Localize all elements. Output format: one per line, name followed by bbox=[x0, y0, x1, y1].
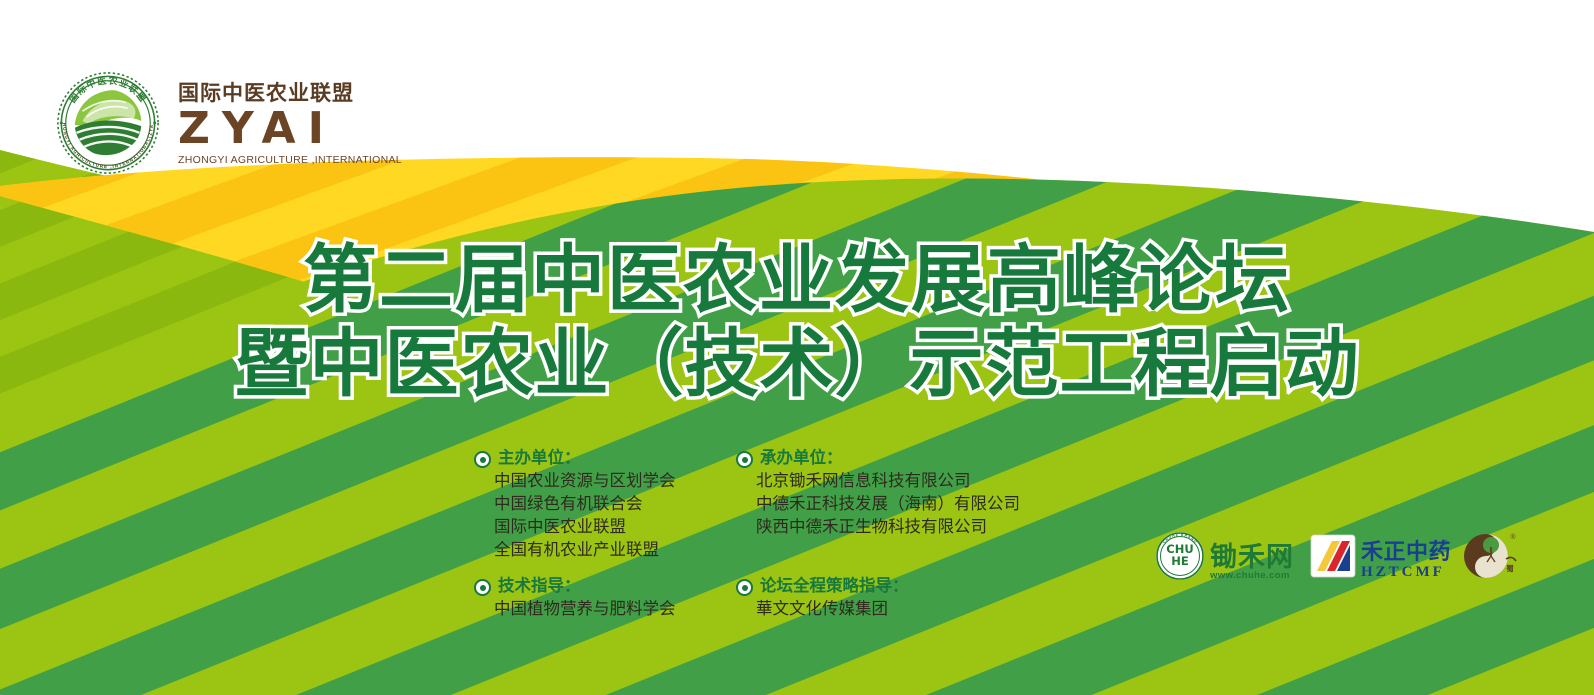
credits-block: 主办单位： 中国农业资源与区划学会 中国绿色有机联合会 国际中医农业联盟 全国有… bbox=[474, 447, 1036, 620]
sponsor-logos: CHU HE CHUHE BRAND 锄禾网 www.chuhe.com 禾正中… bbox=[1152, 528, 1522, 584]
credit-items: 華文文化传媒集团 bbox=[756, 597, 1036, 620]
bullet-icon bbox=[474, 451, 491, 468]
credit-group: 承办单位： 北京锄禾网信息科技有限公司 中德禾正科技发展（海南）有限公司 陕西中… bbox=[736, 447, 1036, 561]
credit-heading-row: 技术指导： bbox=[474, 575, 736, 597]
credit-item: 陕西中德禾正生物科技有限公司 bbox=[756, 515, 1036, 538]
credit-item: 全国有机农业产业联盟 bbox=[494, 538, 736, 561]
zyai-emblem-icon: 国际中医农业联盟 ZHONGYI AGRICULTURE ,INTERNATIO… bbox=[52, 68, 164, 178]
taiji-tree-logo-icon: ® 蜀 bbox=[1460, 529, 1522, 583]
credit-item: 中德禾正科技发展（海南）有限公司 bbox=[756, 492, 1036, 515]
svg-text:HE: HE bbox=[1171, 554, 1189, 568]
credit-heading: 承办单位： bbox=[760, 447, 843, 469]
credit-heading-row: 主办单位： bbox=[474, 447, 736, 469]
logo-name-en: ZHONGYI AGRICULTURE ,INTERNATIONAL bbox=[178, 154, 402, 166]
poster-canvas: 国际中医农业联盟 ZHONGYI AGRICULTURE ,INTERNATIO… bbox=[0, 0, 1594, 695]
credits-column-left: 主办单位： 中国农业资源与区划学会 中国绿色有机联合会 国际中医农业联盟 全国有… bbox=[474, 447, 736, 620]
credit-group: 论坛全程策略指导： 華文文化传媒集团 bbox=[736, 575, 1036, 620]
credit-item: 国际中医农业联盟 bbox=[494, 515, 736, 538]
logo-wordmark: 国际中医农业联盟 ZYAI ZHONGYI AGRICULTURE ,INTER… bbox=[178, 80, 402, 165]
credit-items: 中国植物营养与肥料学会 bbox=[494, 597, 736, 620]
svg-text:www.chuhe.com: www.chuhe.com bbox=[1209, 570, 1290, 581]
credit-items: 北京锄禾网信息科技有限公司 中德禾正科技发展（海南）有限公司 陕西中德禾正生物科… bbox=[756, 469, 1036, 561]
credit-heading: 主办单位： bbox=[498, 447, 581, 469]
credit-group: 主办单位： 中国农业资源与区划学会 中国绿色有机联合会 国际中医农业联盟 全国有… bbox=[474, 447, 736, 561]
bullet-icon bbox=[736, 451, 753, 468]
logo-acronym: ZYAI bbox=[178, 107, 402, 151]
credit-item: 北京锄禾网信息科技有限公司 bbox=[756, 469, 1036, 492]
credit-item: 華文文化传媒集团 bbox=[756, 597, 1036, 620]
svg-text:®: ® bbox=[1442, 539, 1448, 547]
svg-text:锄禾网: 锄禾网 bbox=[1210, 542, 1294, 573]
organization-logo: 国际中医农业联盟 ZHONGYI AGRICULTURE ,INTERNATIO… bbox=[52, 68, 402, 178]
svg-text:®: ® bbox=[1510, 533, 1516, 541]
svg-text:禾正中药肥: 禾正中药肥 bbox=[1361, 540, 1451, 565]
svg-text:HZTCMF: HZTCMF bbox=[1361, 564, 1445, 580]
credit-item: 中国农业资源与区划学会 bbox=[494, 469, 736, 492]
credit-heading: 技术指导： bbox=[498, 575, 581, 597]
svg-text:蜀: 蜀 bbox=[1506, 563, 1514, 573]
credit-heading-row: 承办单位： bbox=[736, 447, 1036, 469]
credit-group: 技术指导： 中国植物营养与肥料学会 bbox=[474, 575, 736, 620]
hzt-cmf-logo-icon: 禾正中药肥 ® HZTCMF bbox=[1309, 529, 1451, 583]
chuhe-wang-logo-icon: CHU HE CHUHE BRAND 锄禾网 www.chuhe.com bbox=[1152, 528, 1300, 584]
bullet-icon bbox=[736, 579, 753, 596]
credits-column-right: 承办单位： 北京锄禾网信息科技有限公司 中德禾正科技发展（海南）有限公司 陕西中… bbox=[736, 447, 1036, 620]
credit-heading-row: 论坛全程策略指导： bbox=[736, 575, 1036, 597]
credit-items: 中国农业资源与区划学会 中国绿色有机联合会 国际中医农业联盟 全国有机农业产业联… bbox=[494, 469, 736, 561]
bullet-icon bbox=[474, 579, 491, 596]
credit-heading: 论坛全程策略指导： bbox=[760, 575, 909, 597]
credit-item: 中国植物营养与肥料学会 bbox=[494, 597, 736, 620]
credit-item: 中国绿色有机联合会 bbox=[494, 492, 736, 515]
